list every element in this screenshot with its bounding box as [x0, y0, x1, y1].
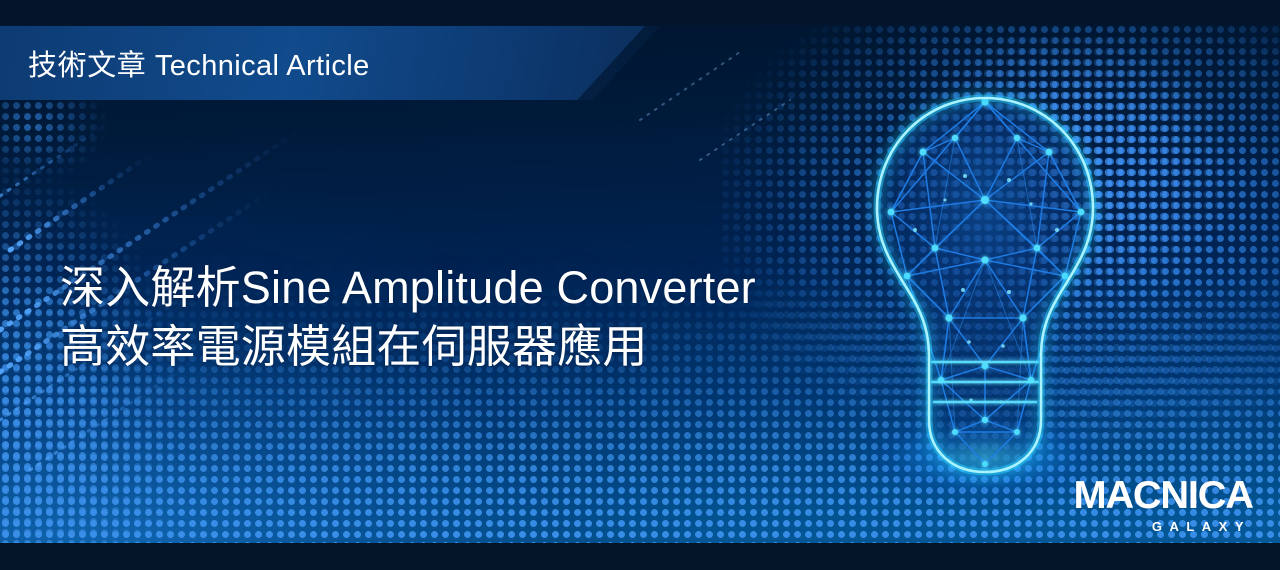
headline-block: 深入解析Sine Amplitude Converter 高效率電源模組在伺服器… — [60, 258, 860, 376]
bottom-letterbox-bar — [0, 543, 1280, 570]
bulb-wireframe-svg — [845, 80, 1125, 500]
headline-line-1: 深入解析Sine Amplitude Converter — [60, 258, 860, 317]
article-type-label-zh: 技術文章 — [28, 50, 146, 82]
headline-line-2: 高效率電源模組在伺服器應用 — [60, 317, 860, 376]
top-letterbox-bar — [0, 0, 1280, 25]
macnica-logo: MACNICA GALAXY — [1077, 476, 1253, 533]
logo-division: GALAXY — [1077, 520, 1253, 533]
light-bulb-graphic — [845, 80, 1125, 500]
technical-article-banner: 技術文章 Technical Article 深入解析Sine Amplitud… — [0, 0, 1280, 570]
logo-wordmark: MACNICA — [1074, 476, 1253, 515]
article-type-label: 技術文章 Technical Article — [0, 42, 370, 84]
article-type-label-en: Technical Article — [155, 50, 370, 82]
